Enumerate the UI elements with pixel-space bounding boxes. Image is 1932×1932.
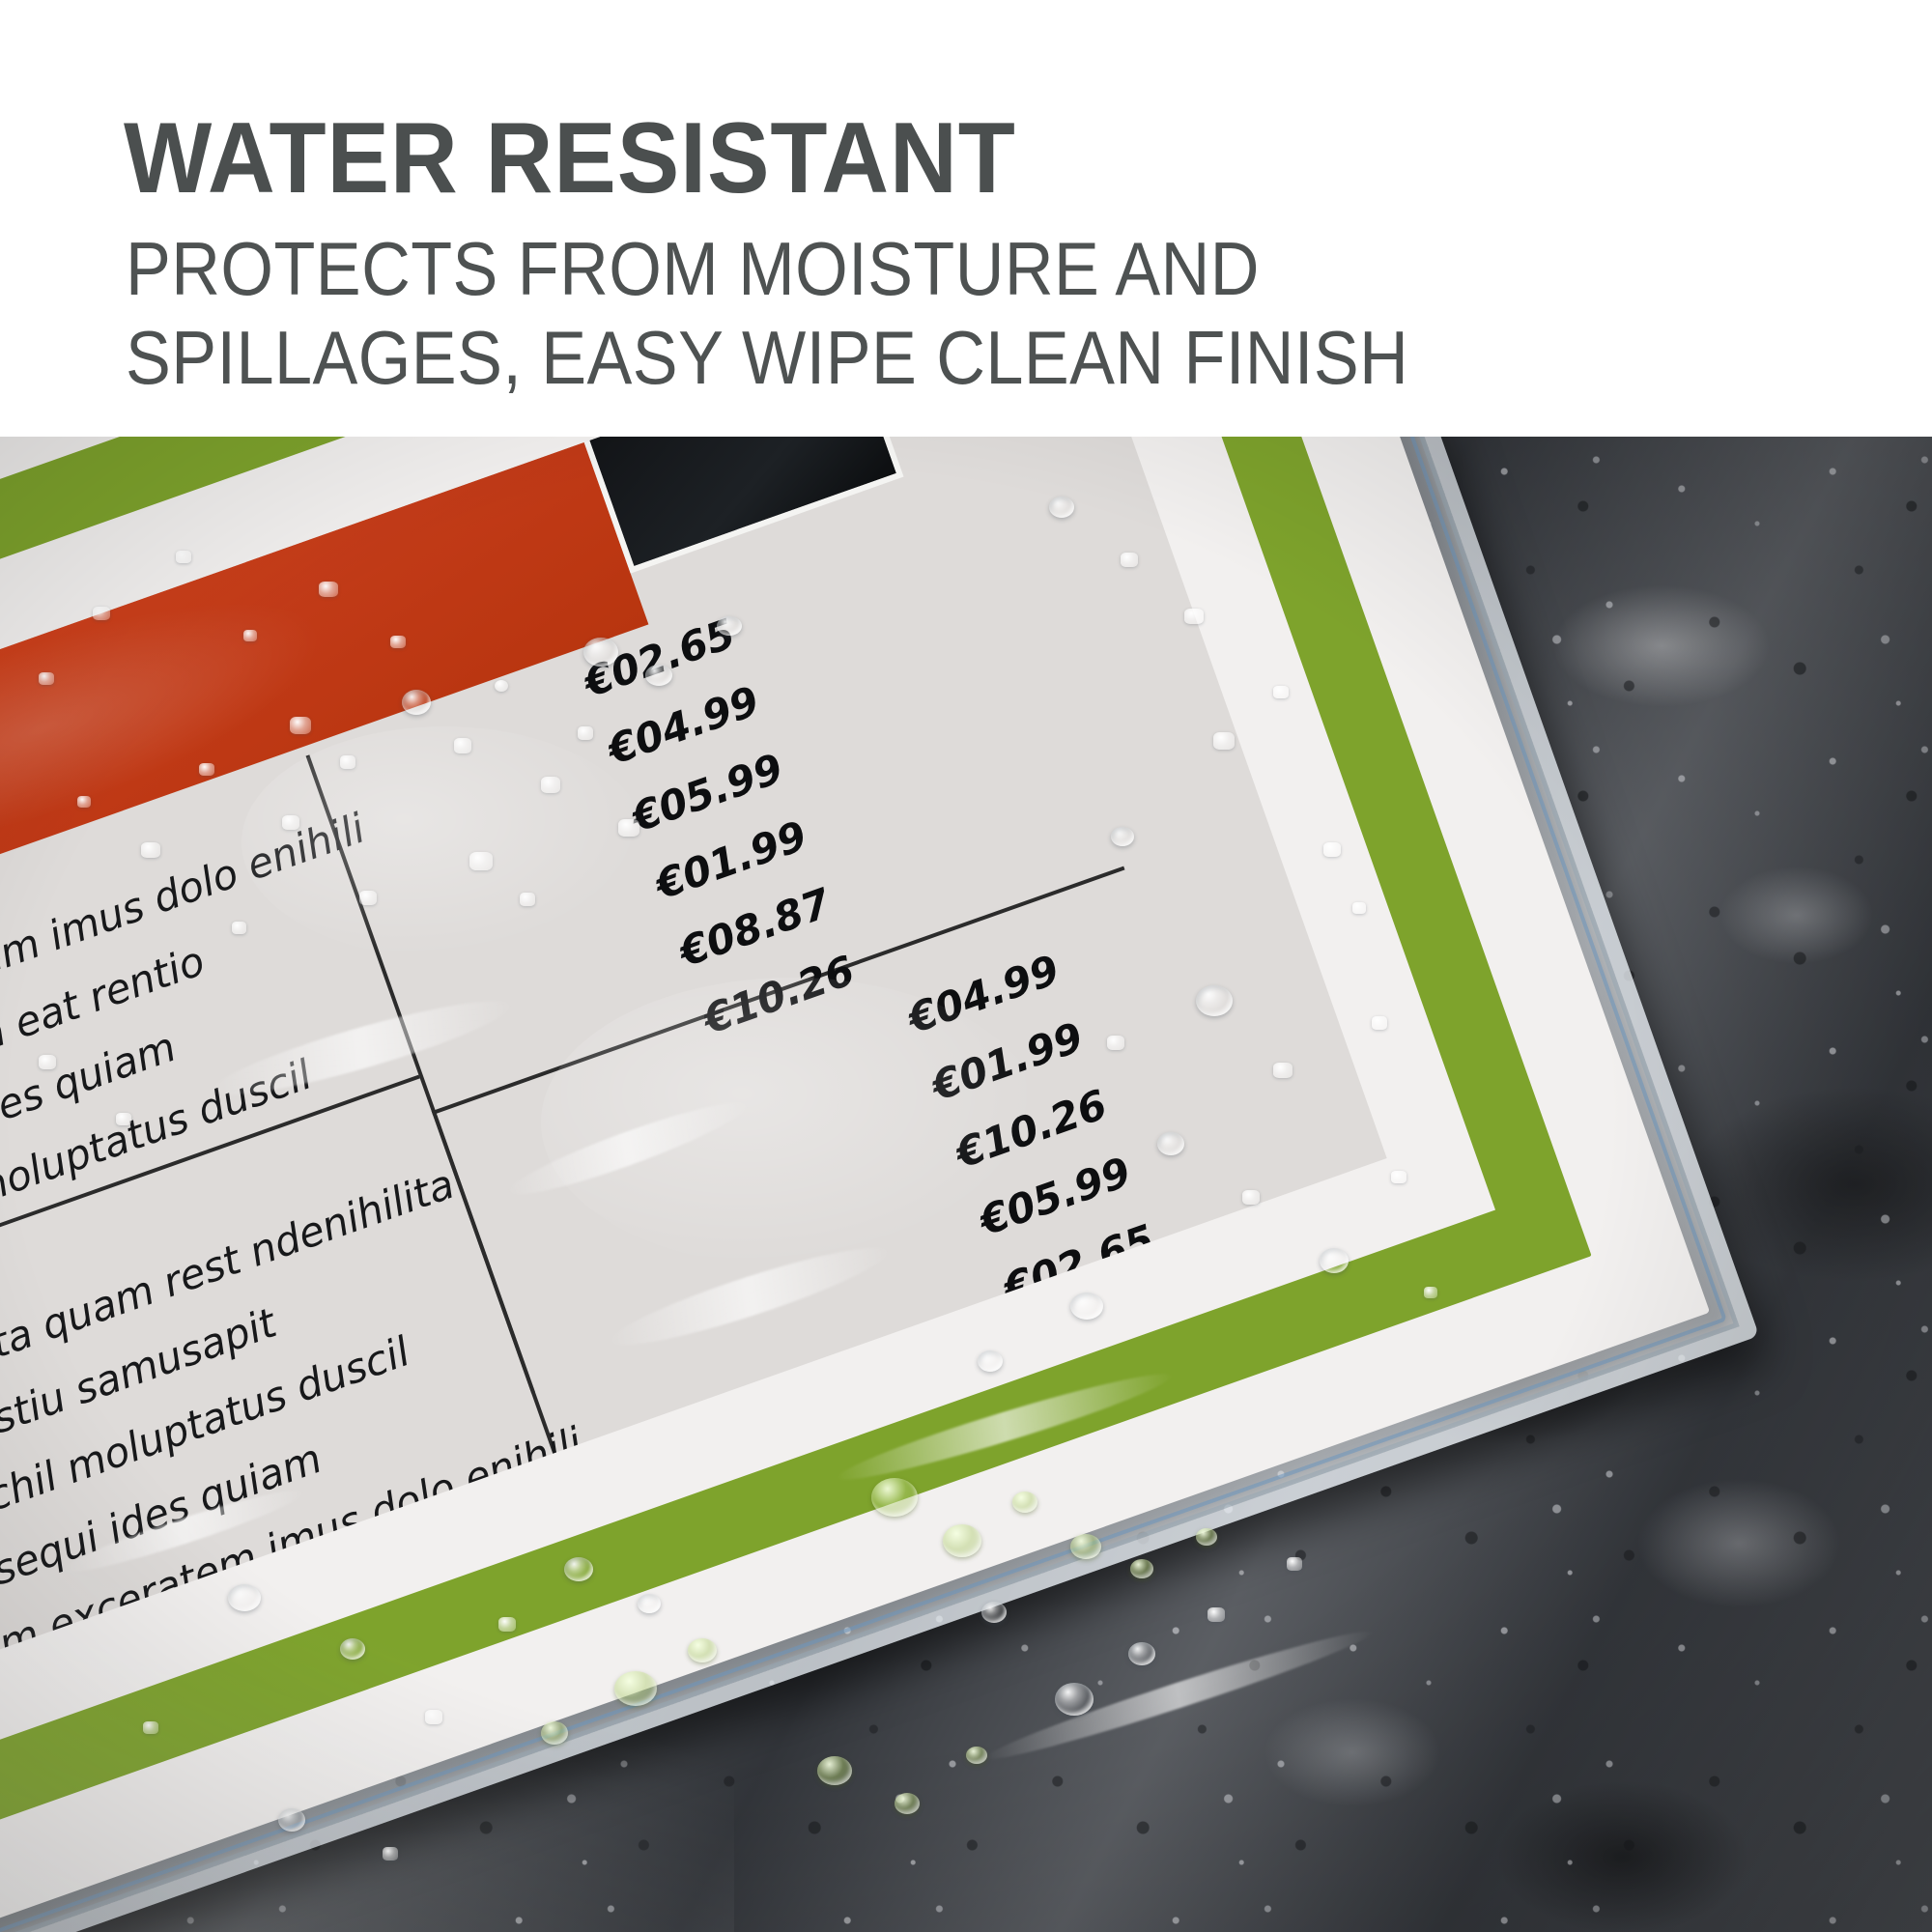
subtitle-line-2: SPILLAGES, EASY WIPE CLEAN FINISH — [126, 313, 1408, 402]
page-title: WATER RESISTANT — [124, 108, 1016, 209]
product-photo: Am exceratem imus dolo enihili Mos nos s… — [0, 437, 1932, 1932]
product-feature-image: WATER RESISTANT PROTECTS FROM MOISTURE A… — [0, 0, 1932, 1932]
header-band: WATER RESISTANT PROTECTS FROM MOISTURE A… — [0, 0, 1932, 437]
subtitle-line-1: PROTECTS FROM MOISTURE AND — [126, 224, 1408, 313]
menu-accent-black-tag — [582, 437, 904, 574]
page-subtitle: PROTECTS FROM MOISTURE AND SPILLAGES, EA… — [126, 224, 1408, 402]
